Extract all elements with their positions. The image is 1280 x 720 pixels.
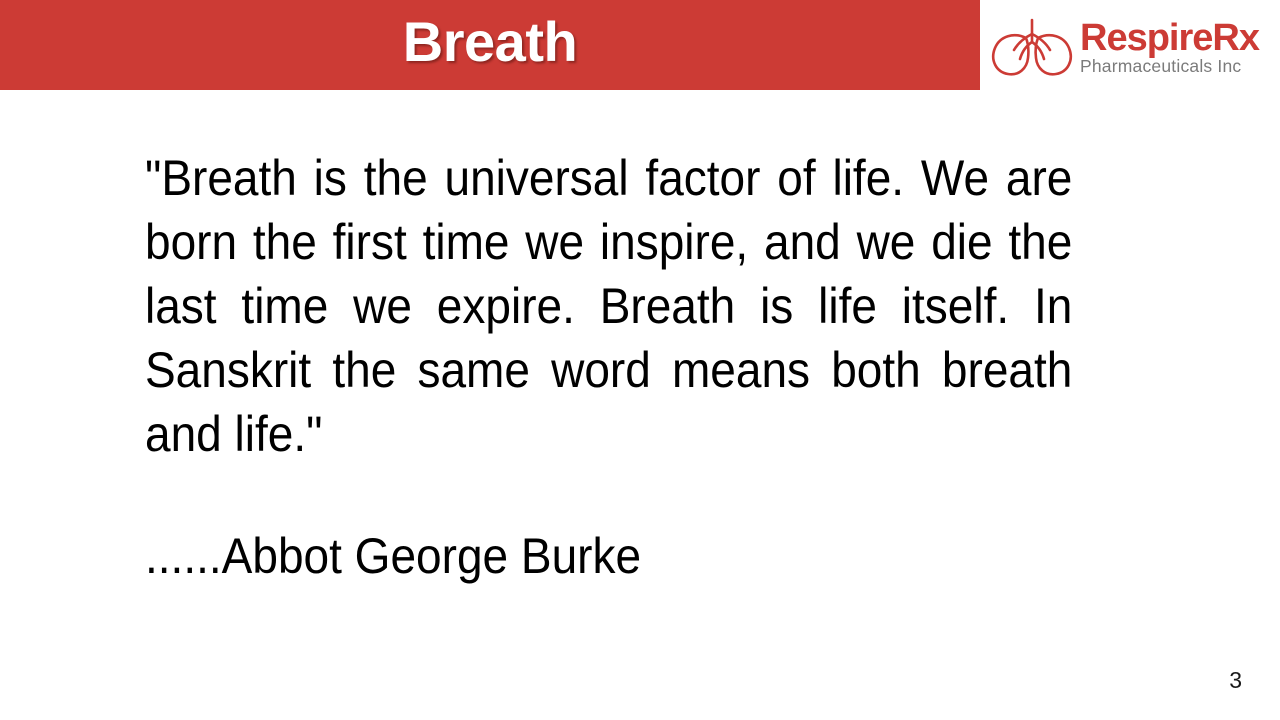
page-number: 3 — [1229, 667, 1242, 694]
logo-brand-name: RespireRx — [1080, 20, 1259, 56]
page-title: Breath — [0, 0, 980, 90]
lungs-icon — [986, 12, 1078, 80]
company-logo: RespireRx Pharmaceuticals Inc — [980, 0, 1280, 92]
quote-paragraph: "Breath is the universal factor of life.… — [145, 146, 1072, 466]
logo-brand-subtitle: Pharmaceuticals Inc — [1080, 57, 1259, 75]
logo-wordmark: RespireRx Pharmaceuticals Inc — [1080, 16, 1259, 75]
quote-attribution: ......Abbot George Burke — [145, 524, 999, 588]
slide-body: "Breath is the universal factor of life.… — [145, 146, 1073, 588]
